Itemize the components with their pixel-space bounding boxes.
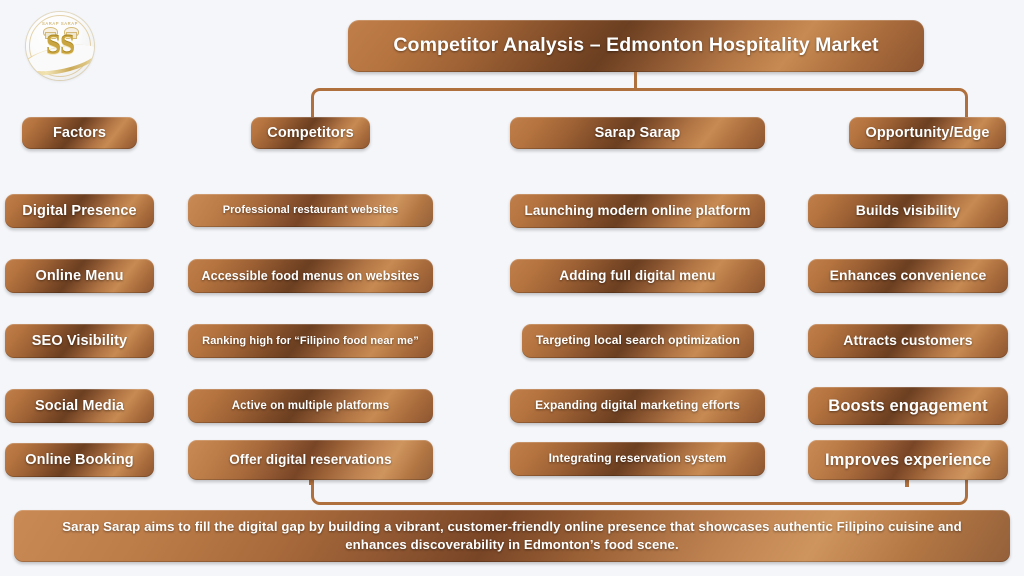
table-cell-factor: Online Menu	[5, 259, 154, 293]
table-cell-competitor: Accessible food menus on websites	[188, 259, 433, 293]
table-cell-sarap: Adding full digital menu	[510, 259, 765, 293]
table-cell-opportunity: Enhances convenience	[808, 259, 1008, 293]
table-cell-factor: Social Media	[5, 389, 154, 423]
column-header-sarap-sarap: Sarap Sarap	[510, 117, 765, 149]
logo-monogram: SS	[26, 29, 94, 60]
table-cell-sarap: Expanding digital marketing efforts	[510, 389, 765, 423]
table-cell-sarap: Integrating reservation system	[510, 442, 765, 476]
logo-arc-text: SARAP SARAP	[26, 21, 94, 26]
column-header-factors: Factors	[22, 117, 137, 149]
column-header-competitors: Competitors	[251, 117, 370, 149]
connector-title-stem	[634, 72, 637, 90]
table-cell-competitor: Professional restaurant websites	[188, 194, 433, 227]
table-cell-factor: SEO Visibility	[5, 324, 154, 358]
table-cell-factor: Online Booking	[5, 443, 154, 477]
summary-banner: Sarap Sarap aims to fill the digital gap…	[14, 510, 1010, 562]
table-cell-factor: Digital Presence	[5, 194, 154, 228]
table-cell-opportunity: Builds visibility	[808, 194, 1008, 228]
table-cell-competitor: Active on multiple platforms	[188, 389, 433, 423]
page-title: Competitor Analysis – Edmonton Hospitali…	[348, 20, 924, 72]
column-header-opportunity: Opportunity/Edge	[849, 117, 1006, 149]
table-cell-sarap: Targeting local search optimization	[522, 324, 754, 358]
connector-bottom-bracket	[311, 479, 968, 505]
slide-canvas: SARAP SARAP SS Competitor Analysis – Edm…	[0, 0, 1024, 576]
table-cell-opportunity: Improves experience	[808, 440, 1008, 480]
table-cell-competitor: Ranking high for “Filipino food near me”	[188, 324, 433, 358]
brand-logo: SARAP SARAP SS	[26, 12, 94, 80]
table-cell-competitor: Offer digital reservations	[188, 440, 433, 480]
table-cell-sarap: Launching modern online platform	[510, 194, 765, 228]
connector-top-bracket	[311, 88, 968, 118]
table-cell-opportunity: Boosts engagement	[808, 387, 1008, 425]
table-cell-opportunity: Attracts customers	[808, 324, 1008, 358]
